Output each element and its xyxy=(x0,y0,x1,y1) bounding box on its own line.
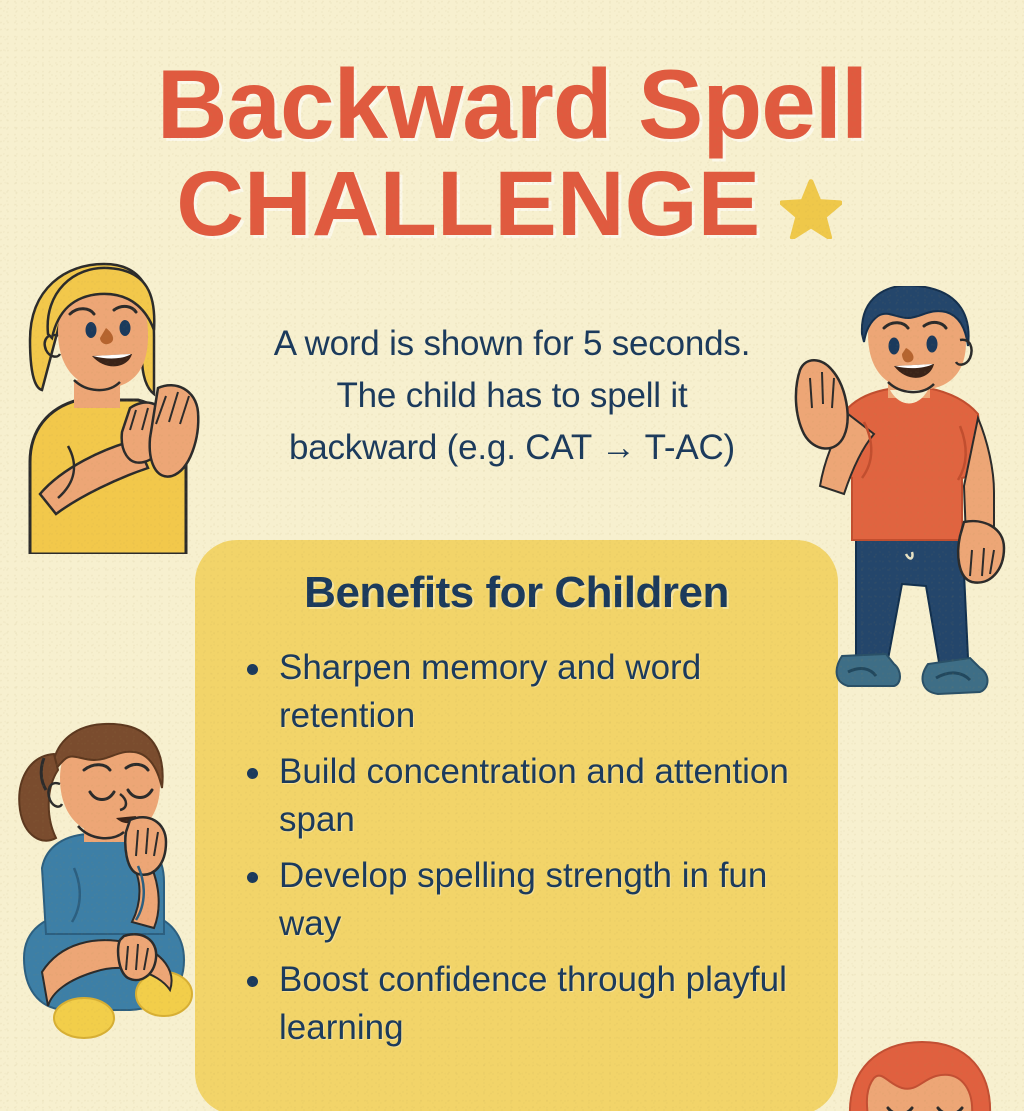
infographic-poster: Backward Spell CHALLENGE A word is shown… xyxy=(0,0,1024,1111)
poster-header: Backward Spell CHALLENGE xyxy=(0,56,1024,254)
intro-line-2: The child has to spell it xyxy=(172,370,852,422)
intro-line-3: backward (e.g. CAT → T-AC) xyxy=(172,422,852,474)
page-title-line2: CHALLENGE xyxy=(176,154,760,254)
list-item: Build concentration and attention span xyxy=(241,748,801,844)
benefits-list: Sharpen memory and word retention Build … xyxy=(241,644,801,1060)
intro-line-1: A word is shown for 5 seconds. xyxy=(172,318,852,370)
list-item: Develop spelling strength in fun way xyxy=(241,852,801,948)
list-item: Sharpen memory and word retention xyxy=(241,644,801,740)
illustration-girl-thinking xyxy=(0,722,204,1052)
list-item: Boost confidence through playful learnin… xyxy=(241,956,801,1052)
illustration-child-corner xyxy=(840,1030,1024,1111)
page-title-line1: Backward Spell xyxy=(0,56,1024,152)
benefits-card: Benefits for Children Sharpen memory and… xyxy=(195,540,838,1111)
benefits-heading: Benefits for Children xyxy=(195,568,838,618)
intro-text: A word is shown for 5 seconds. The child… xyxy=(172,318,852,474)
title-row-secondary: CHALLENGE xyxy=(0,154,1024,254)
star-icon xyxy=(780,179,842,239)
